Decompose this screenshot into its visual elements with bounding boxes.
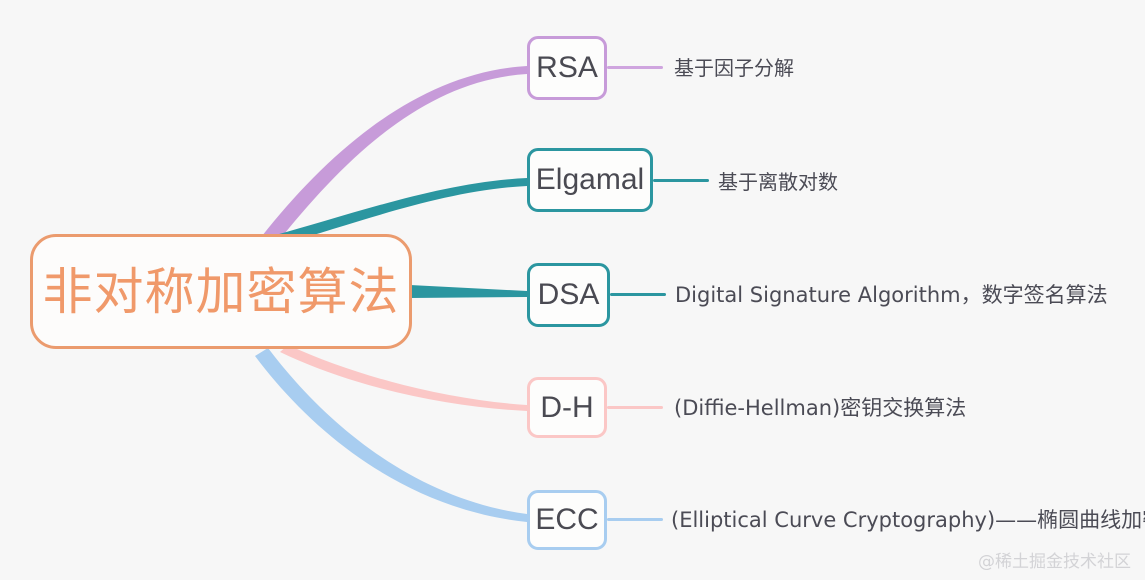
node-dh-label: D-H: [540, 393, 593, 423]
branch-curve-dsa: [410, 285, 527, 298]
node-elgamal-label: Elgamal: [536, 165, 644, 195]
leaf-text-ecc: (Elliptical Curve Cryptography)——椭圆曲线加密: [671, 508, 1145, 533]
node-rsa-label: RSA: [536, 53, 598, 83]
leaf-stub-dsa: [610, 293, 666, 296]
leaf-text-rsa: 基于因子分解: [674, 56, 794, 80]
leaf-text-elgamal: 基于离散对数: [718, 170, 838, 194]
node-ecc[interactable]: ECC: [527, 490, 607, 550]
node-ecc-label: ECC: [535, 505, 598, 535]
leaf-stub-ecc: [607, 518, 663, 521]
branch-curve-dh: [280, 345, 527, 411]
node-dsa[interactable]: DSA: [527, 263, 610, 327]
leaf-text-dsa: Digital Signature Algorithm，数字签名算法: [675, 283, 1108, 308]
node-dsa-label: DSA: [538, 280, 600, 310]
root-node-label: 非对称加密算法: [43, 267, 400, 317]
node-dh[interactable]: D-H: [527, 377, 607, 438]
branch-curve-ecc: [255, 348, 527, 522]
leaf-text-dh: (Diffie-Hellman)密钥交换算法: [674, 396, 966, 421]
mindmap-canvas: 非对称加密算法 RSA 基于因子分解 Elgamal 基于离散对数 DSA Di…: [0, 0, 1145, 580]
leaf-stub-rsa: [607, 66, 663, 69]
node-elgamal[interactable]: Elgamal: [527, 148, 653, 212]
watermark-text: @稀土掘金技术社区: [978, 547, 1131, 572]
node-rsa[interactable]: RSA: [527, 36, 607, 100]
leaf-stub-elgamal: [653, 179, 709, 182]
branch-curve-rsa: [262, 66, 527, 243]
leaf-stub-dh: [607, 406, 663, 409]
root-node[interactable]: 非对称加密算法: [30, 234, 412, 349]
